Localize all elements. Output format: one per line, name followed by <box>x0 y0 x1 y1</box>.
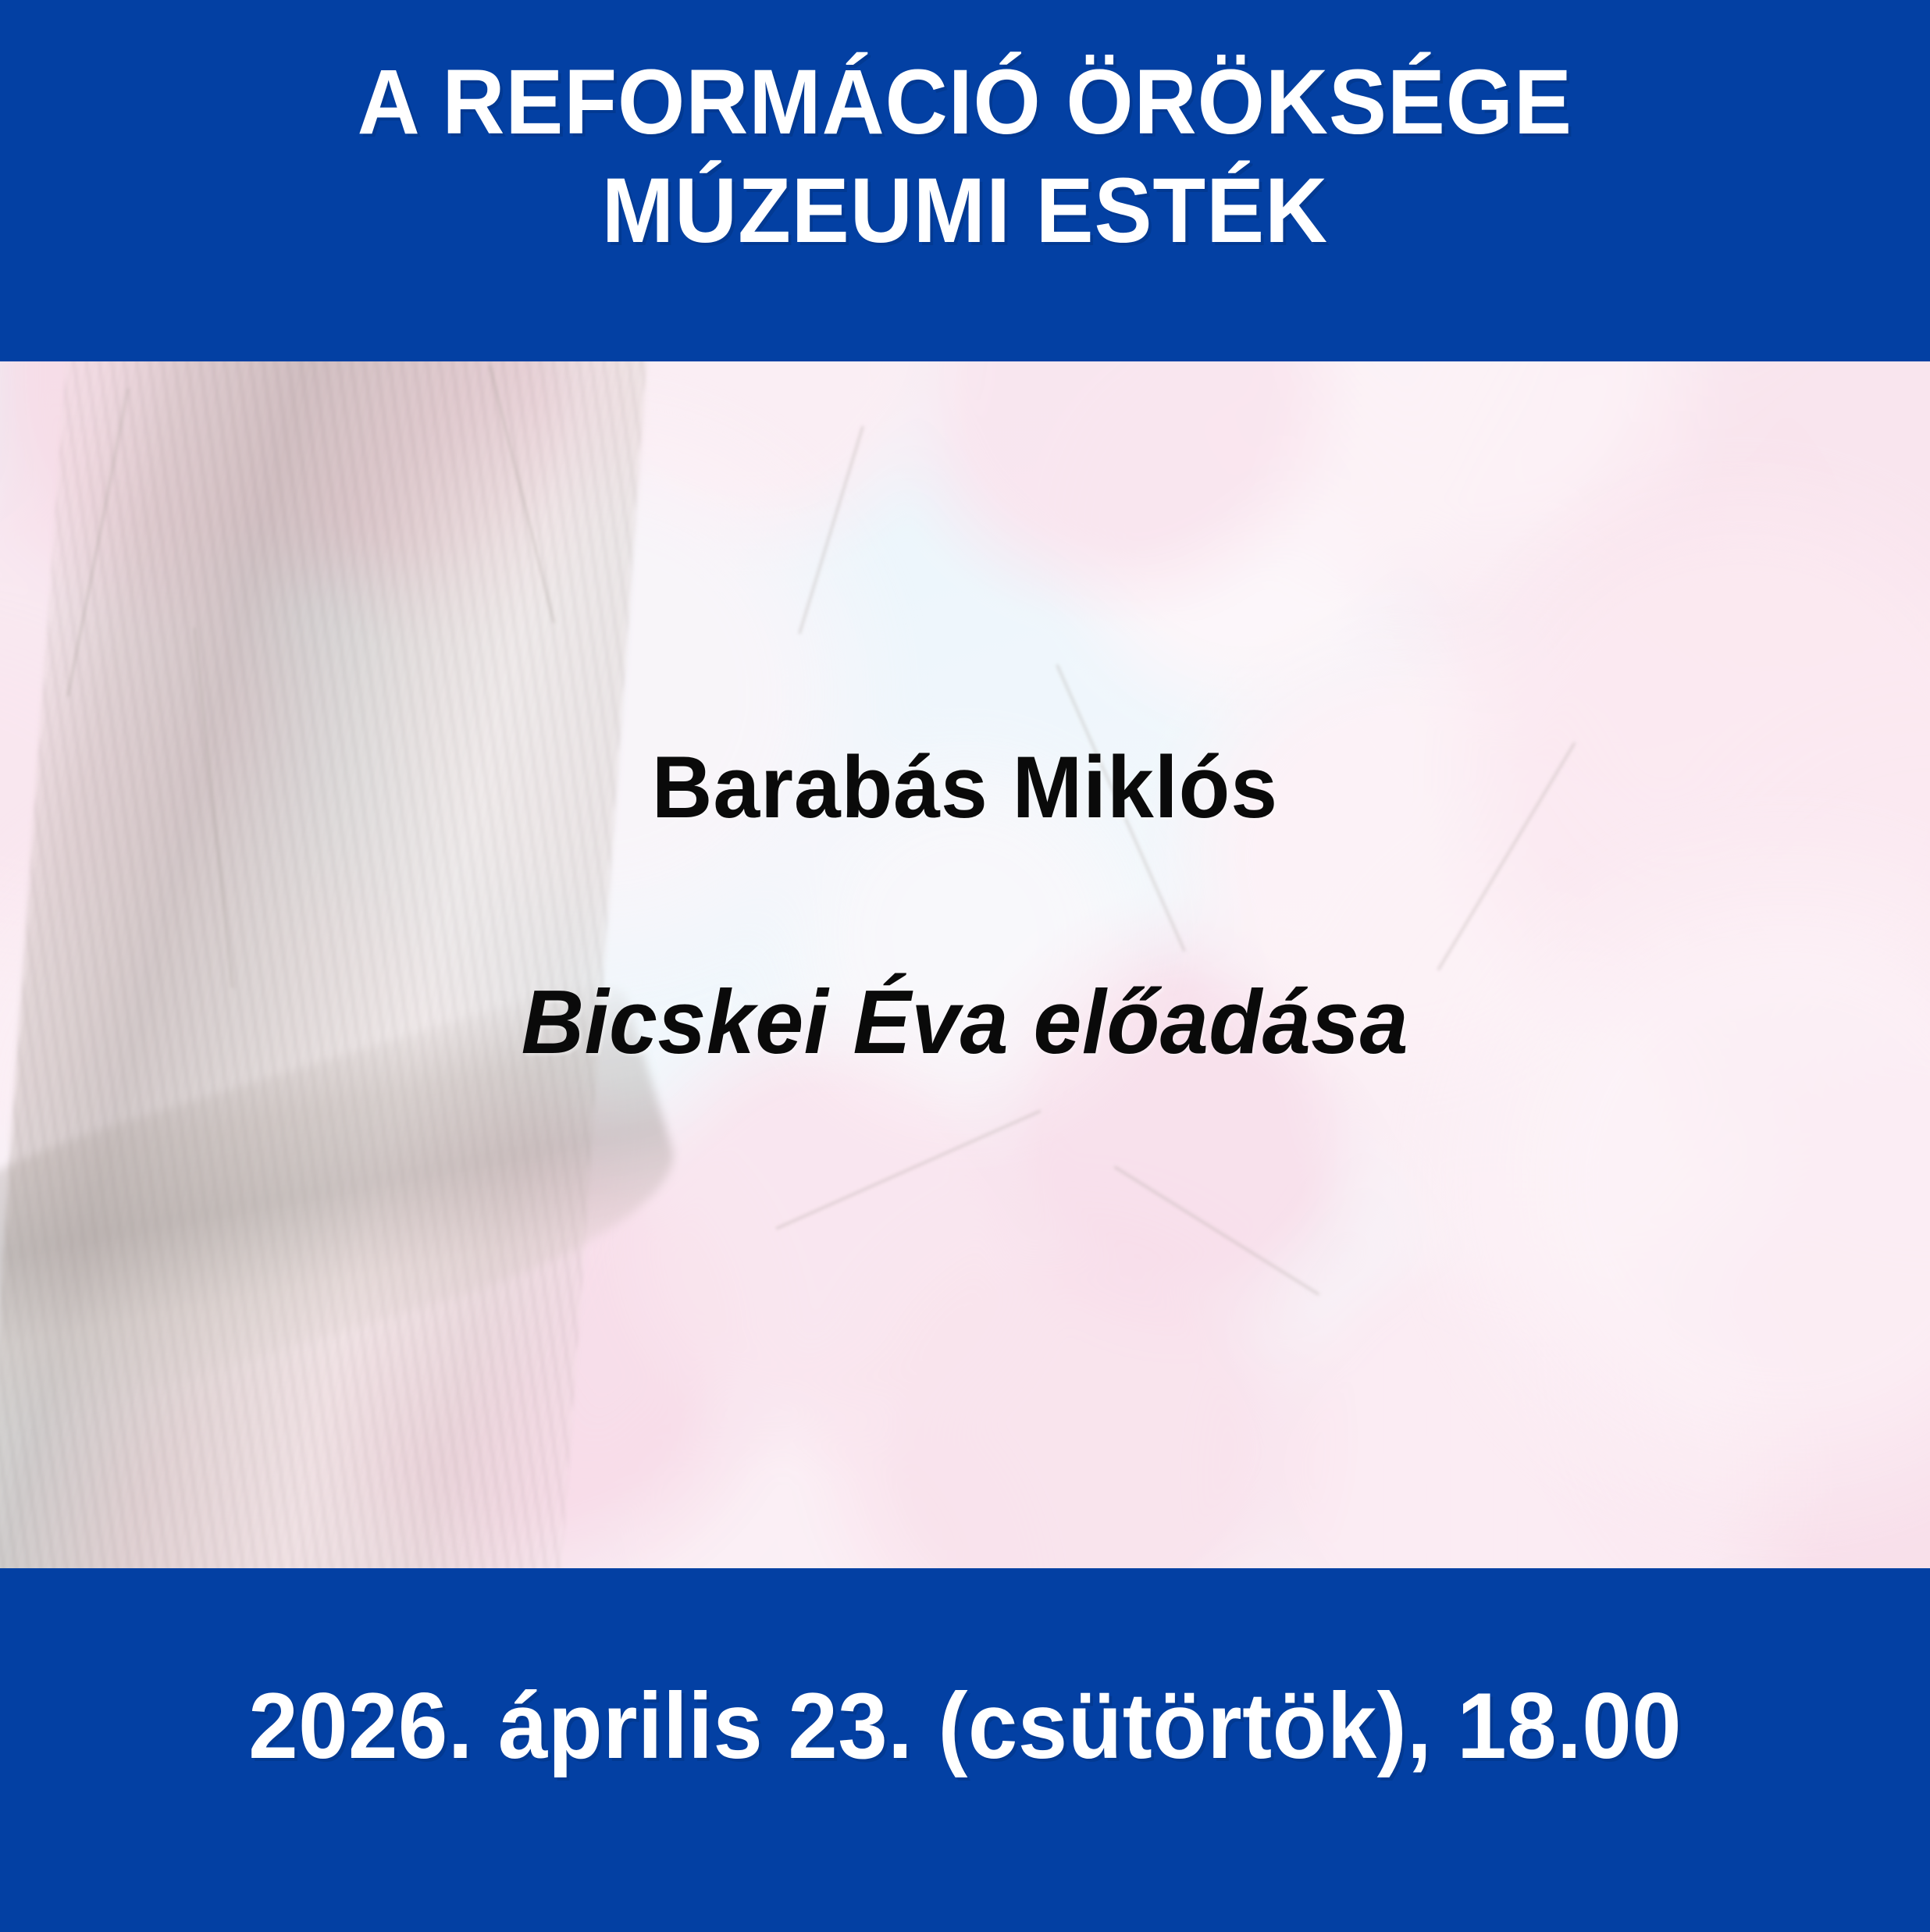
poster-footer-band: 2026. április 23. (csütörtök), 18.00 <box>0 1568 1930 1932</box>
cherry-blossom-background-image: Barabás Miklós Bicskei Éva előadása <box>0 361 1930 1568</box>
event-datetime: 2026. április 23. (csütörtök), 18.00 <box>248 1679 1682 1773</box>
header-title-line-2: MÚZEUMI ESTÉK <box>602 157 1328 265</box>
header-title-line-1: A REFORMÁCIÓ ÖRÖKSÉGE <box>358 48 1572 157</box>
poster-header-band: A REFORMÁCIÓ ÖRÖKSÉGE MÚZEUMI ESTÉK <box>0 0 1930 361</box>
event-poster: A REFORMÁCIÓ ÖRÖKSÉGE MÚZEUMI ESTÉK Bara… <box>0 0 1930 1932</box>
